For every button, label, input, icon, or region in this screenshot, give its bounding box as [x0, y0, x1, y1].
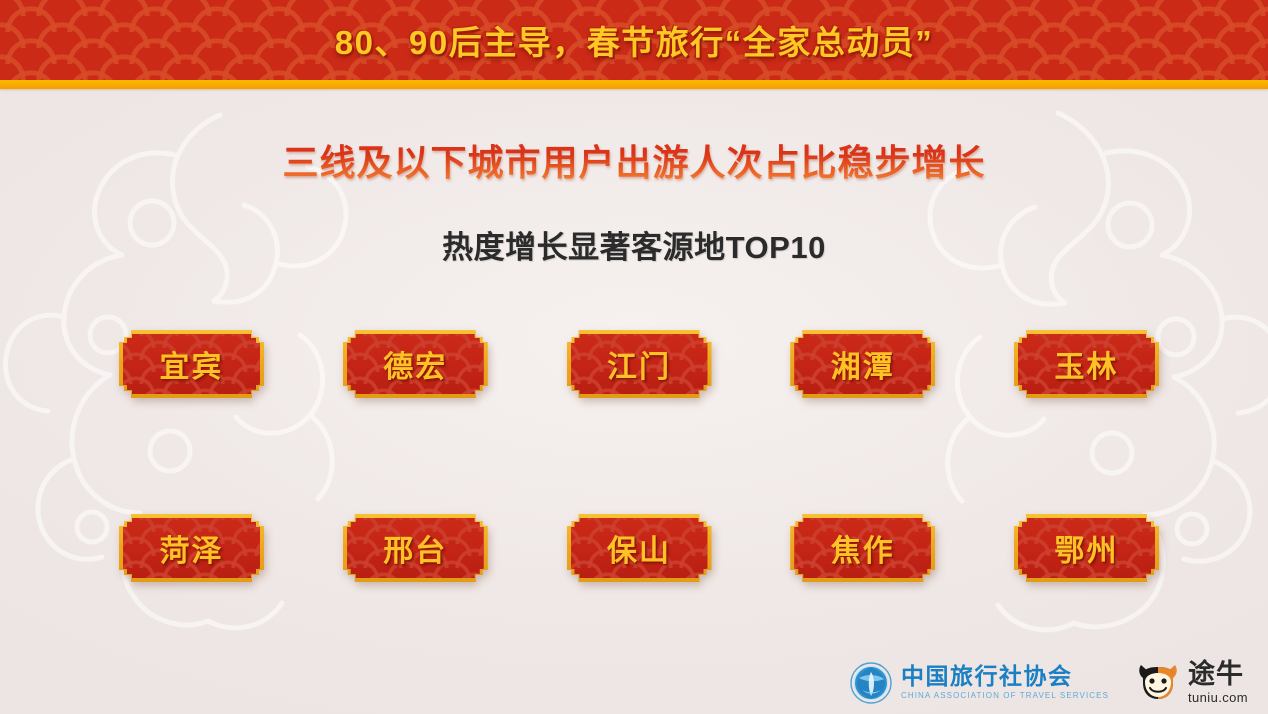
- city-badge[interactable]: 保山: [567, 514, 712, 582]
- page-title: 三线及以下城市用户出游人次占比稳步增长: [0, 134, 1268, 186]
- tuniu-name-cn: 途牛: [1188, 661, 1248, 688]
- city-badge-label: 湘潭: [790, 330, 935, 398]
- cats-logo: 中国旅行社协会 CHINA ASSOCIATION OF TRAVEL SERV…: [850, 662, 1109, 704]
- tuniu-name-en: tuniu.com: [1188, 691, 1248, 704]
- city-badge-label: 保山: [567, 514, 712, 582]
- city-badge[interactable]: 湘潭: [790, 330, 935, 398]
- city-badge[interactable]: 德宏: [343, 330, 488, 398]
- city-badge-label: 邢台: [343, 514, 488, 582]
- slide-canvas: 80、90后主导，春节旅行“全家总动员” 三线及以下城市用户出游人次占比稳步增长…: [0, 0, 1268, 714]
- city-badge-label: 菏泽: [119, 514, 264, 582]
- city-badge[interactable]: 鄂州: [1014, 514, 1159, 582]
- header-title: 80、90后主导，春节旅行“全家总动员”: [0, 0, 1268, 80]
- city-badge[interactable]: 宜宾: [119, 330, 264, 398]
- city-badge-label: 德宏: [343, 330, 488, 398]
- city-badge[interactable]: 焦作: [790, 514, 935, 582]
- city-badge[interactable]: 江门: [567, 330, 712, 398]
- city-badge[interactable]: 邢台: [343, 514, 488, 582]
- city-badge[interactable]: 菏泽: [119, 514, 264, 582]
- cats-name-en: CHINA ASSOCIATION OF TRAVEL SERVICES: [901, 692, 1109, 700]
- city-badge-label: 宜宾: [119, 330, 264, 398]
- tuniu-logo: 途牛 tuniu.com: [1135, 661, 1248, 704]
- cats-name-cn: 中国旅行社协会: [901, 665, 1109, 688]
- city-badge-label: 玉林: [1014, 330, 1159, 398]
- city-badge-grid: 宜宾 德宏 江门 湘潭 玉林: [119, 330, 1159, 582]
- city-badge-row-1: 宜宾 德宏 江门 湘潭 玉林: [119, 330, 1159, 398]
- tuniu-logo-text: 途牛 tuniu.com: [1188, 661, 1248, 704]
- city-badge-label: 焦作: [790, 514, 935, 582]
- globe-icon: [850, 662, 892, 704]
- cow-mascot-icon: [1135, 663, 1181, 703]
- city-badge[interactable]: 玉林: [1014, 330, 1159, 398]
- cats-logo-text: 中国旅行社协会 CHINA ASSOCIATION OF TRAVEL SERV…: [901, 665, 1109, 700]
- gold-divider: [0, 80, 1268, 89]
- city-badge-label: 江门: [567, 330, 712, 398]
- city-badge-label: 鄂州: [1014, 514, 1159, 582]
- city-badge-row-2: 菏泽 邢台 保山 焦作 鄂州: [119, 514, 1159, 582]
- page-subtitle: 热度增长显著客源地TOP10: [0, 222, 1268, 267]
- footer-logos: 中国旅行社协会 CHINA ASSOCIATION OF TRAVEL SERV…: [850, 661, 1248, 704]
